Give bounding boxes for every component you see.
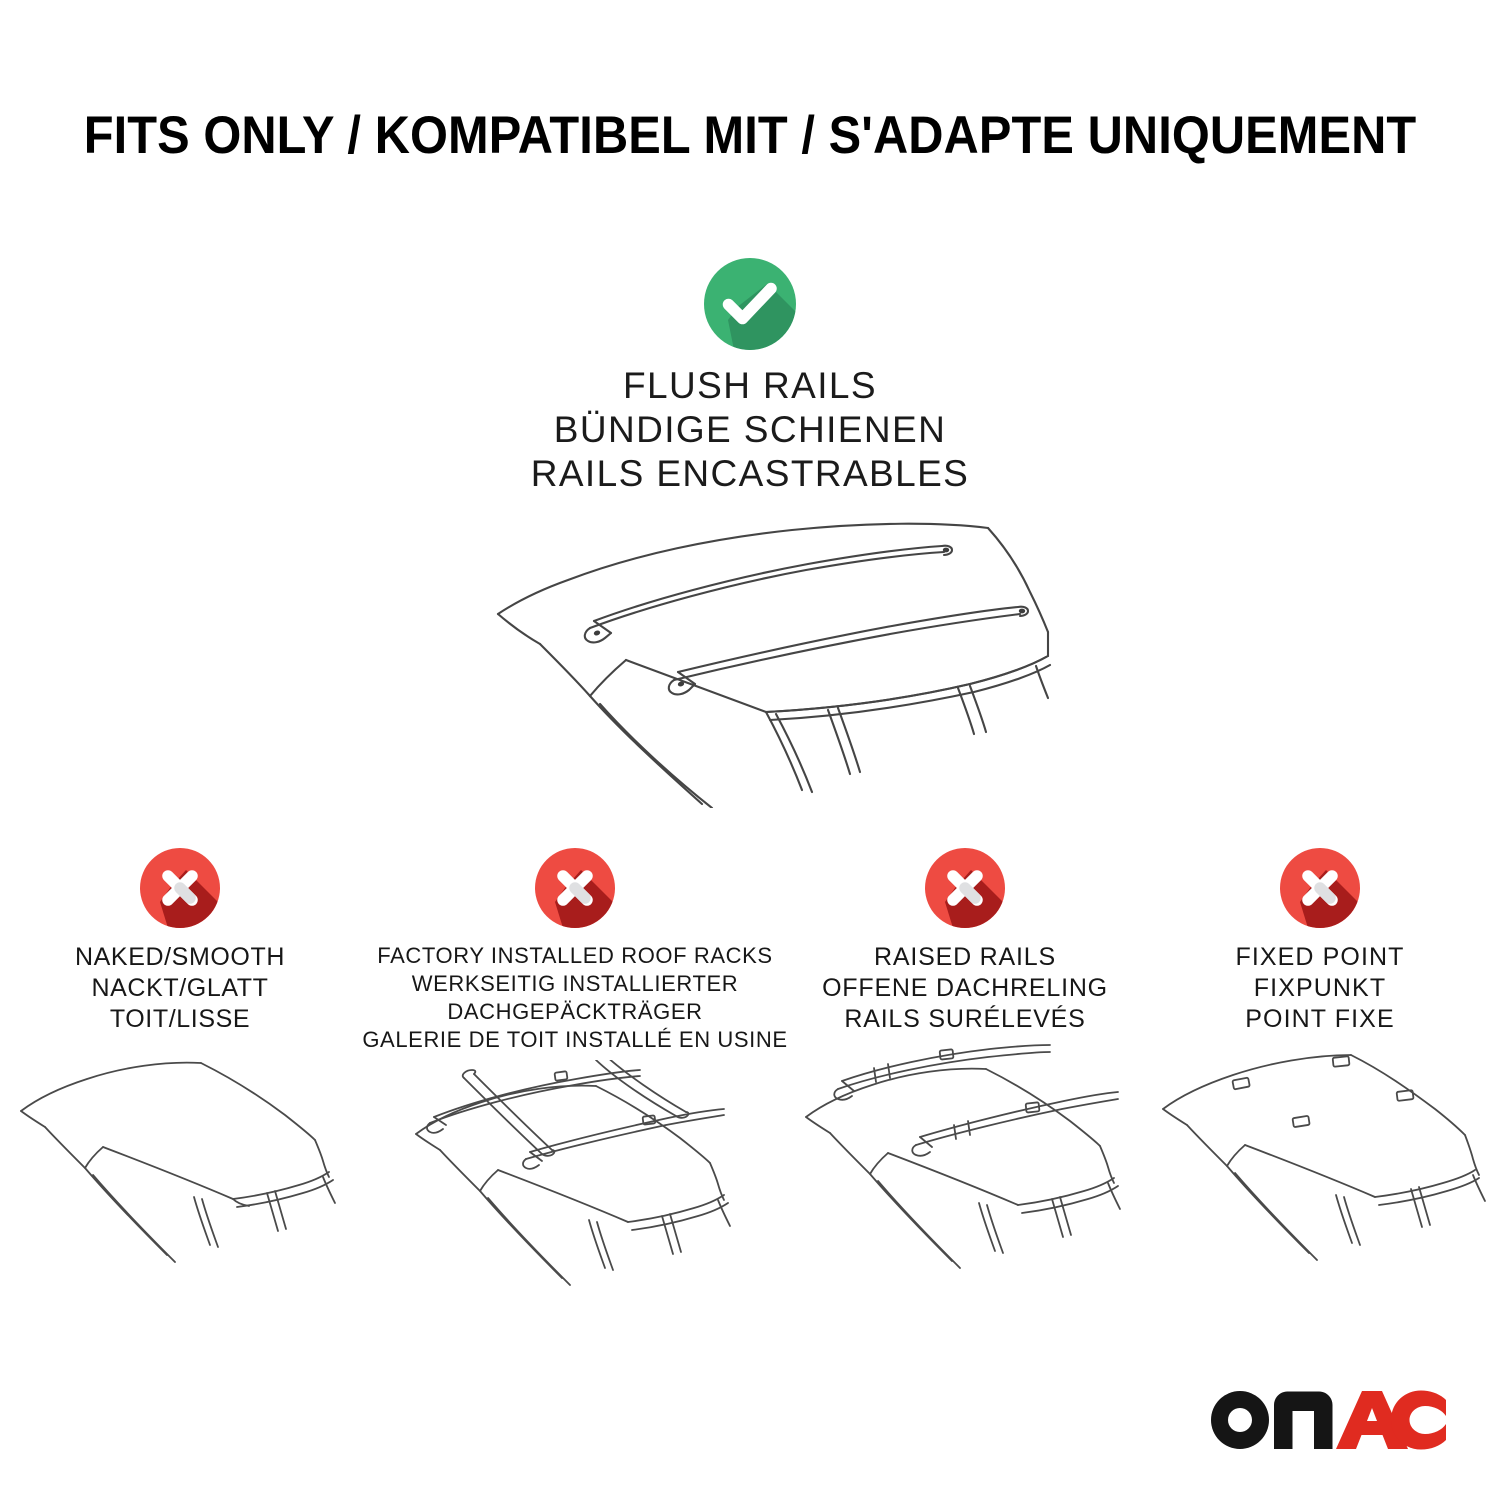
logo-letter-o (1211, 1391, 1269, 1449)
cross-icon (535, 848, 615, 928)
cross-icon (1280, 848, 1360, 928)
label-line-de: OFFENE DACHRELING (822, 973, 1108, 1004)
label-line-en: NAKED/SMOOTH (75, 942, 285, 973)
compatible-label-en: FLUSH RAILS (531, 364, 970, 408)
fitment-infographic: FITS ONLY / KOMPATIBEL MIT / S'ADAPTE UN… (0, 0, 1500, 1500)
label-line-de: NACKT/GLATT (75, 973, 285, 1004)
cross-badge-fixed-point (1280, 848, 1360, 928)
incompatible-labels-factory-roof-racks: FACTORY INSTALLED ROOF RACKS WERKSEITIG … (362, 942, 787, 1054)
incompatible-column-raised-rails: RAISED RAILS OFFENE DACHRELING RAILS SUR… (790, 848, 1140, 1291)
cross-icon (140, 848, 220, 928)
incompatible-labels-raised-rails: RAISED RAILS OFFENE DACHRELING RAILS SUR… (822, 942, 1108, 1035)
label-line-en: FIXED POINT (1235, 942, 1404, 973)
incompatible-column-fixed-point: FIXED POINT FIXPUNKT POINT FIXE (1140, 848, 1500, 1291)
check-badge (704, 258, 796, 350)
label-line-fr: GALERIE DE TOIT INSTALLÉ EN USINE (362, 1026, 787, 1054)
cross-badge-naked-smooth (140, 848, 220, 928)
roof-illustration-naked-smooth (5, 1041, 355, 1291)
label-line-en: FACTORY INSTALLED ROOF RACKS (362, 942, 787, 970)
compatible-label-de: BÜNDIGE SCHIENEN (531, 408, 970, 452)
label-line-de-1: WERKSEITIG INSTALLIERTER (362, 970, 787, 998)
roof-illustration-raised-rails (790, 1041, 1140, 1291)
compatible-labels: FLUSH RAILS BÜNDIGE SCHIENEN RAILS ENCAS… (531, 364, 970, 496)
cross-icon (925, 848, 1005, 928)
label-line-de-2: DACHGEPÄCKTRÄGER (362, 998, 787, 1026)
roof-illustration-fixed-point (1145, 1041, 1495, 1291)
incompatible-sections: NAKED/SMOOTH NACKT/GLATT TOIT/LISSE (0, 848, 1500, 1310)
cross-badge-raised-rails (925, 848, 1005, 928)
check-icon (704, 258, 796, 350)
compatible-label-fr: RAILS ENCASTRABLES (531, 452, 970, 496)
label-line-fr: POINT FIXE (1235, 1004, 1404, 1035)
label-line-fr: TOIT/LISSE (75, 1004, 285, 1035)
page-title: FITS ONLY / KOMPATIBEL MIT / S'ADAPTE UN… (60, 106, 1440, 166)
label-line-de: FIXPUNKT (1235, 973, 1404, 1004)
roof-illustration-factory-roof-racks (400, 1060, 750, 1310)
incompatible-labels-naked-smooth: NAKED/SMOOTH NACKT/GLATT TOIT/LISSE (75, 942, 285, 1035)
label-line-en: RAISED RAILS (822, 942, 1108, 973)
logo-letter-m (1274, 1392, 1333, 1450)
incompatible-labels-fixed-point: FIXED POINT FIXPUNKT POINT FIXE (1235, 942, 1404, 1035)
roof-illustration-flush-rails (440, 508, 1060, 808)
incompatible-column-naked-smooth: NAKED/SMOOTH NACKT/GLATT TOIT/LISSE (0, 848, 360, 1291)
incompatible-column-factory-roof-racks: FACTORY INSTALLED ROOF RACKS WERKSEITIG … (360, 848, 790, 1310)
cross-badge-factory-roof-racks (535, 848, 615, 928)
label-line-fr: RAILS SURÉLEVÉS (822, 1004, 1108, 1035)
compatible-section: FLUSH RAILS BÜNDIGE SCHIENEN RAILS ENCAS… (0, 258, 1500, 808)
omac-logo (1210, 1386, 1448, 1454)
